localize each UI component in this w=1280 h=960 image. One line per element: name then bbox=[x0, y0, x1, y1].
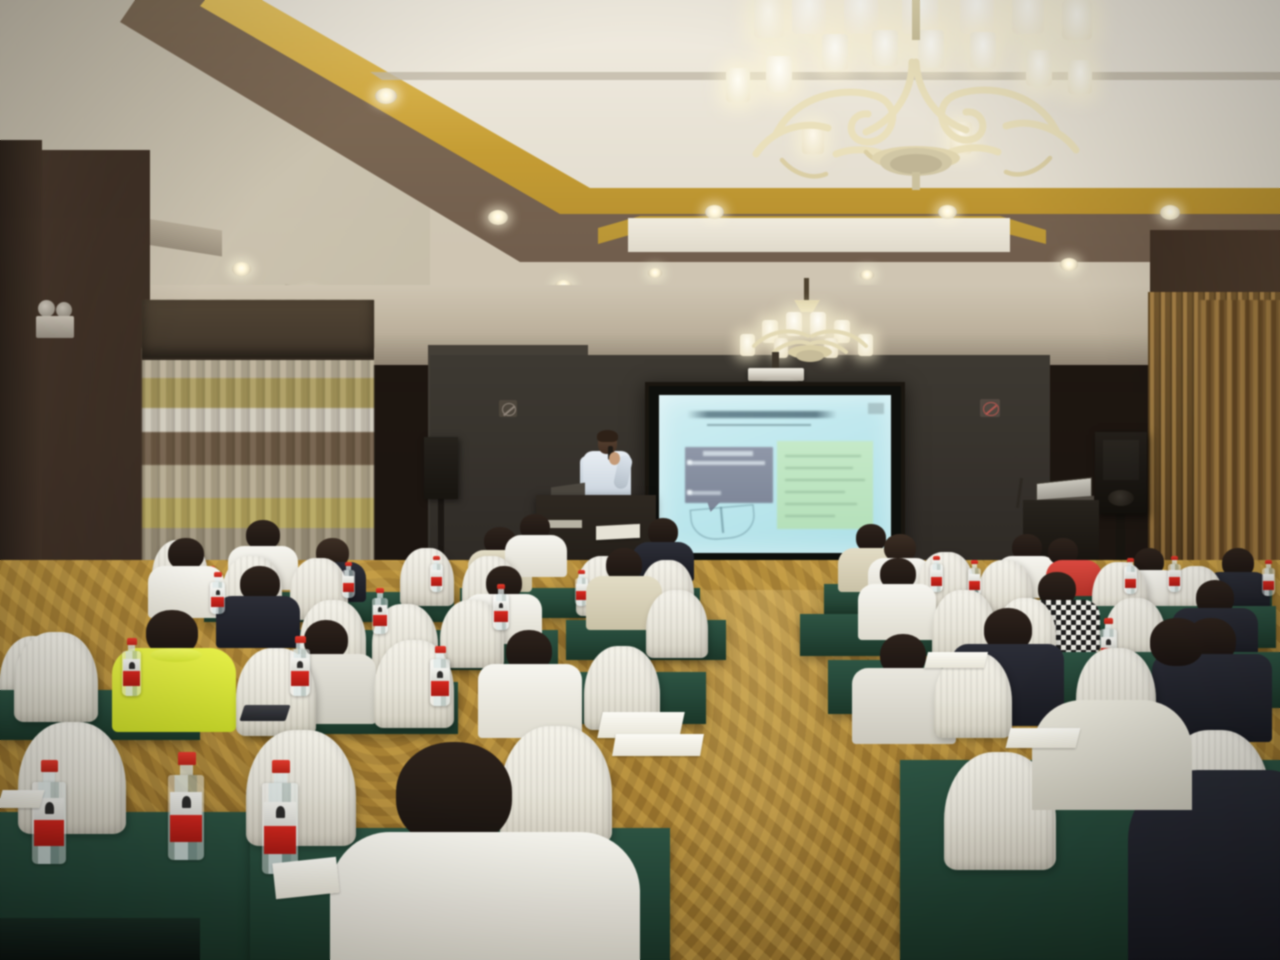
banquet-chair bbox=[500, 726, 612, 844]
handout-paper bbox=[612, 734, 704, 756]
banquet-chair bbox=[646, 590, 708, 658]
downlight-icon bbox=[705, 205, 724, 219]
water-bottle bbox=[32, 760, 66, 864]
downlight-icon bbox=[488, 210, 508, 225]
speaker-cone-icon bbox=[1108, 490, 1134, 506]
chandelier-scrollwork bbox=[716, 34, 1116, 194]
emergency-light-head-icon bbox=[38, 300, 55, 317]
water-bottle bbox=[122, 638, 141, 696]
attendee-body bbox=[216, 596, 300, 648]
no-smoking-sign-icon bbox=[980, 399, 1000, 417]
downlight-icon bbox=[1160, 205, 1180, 220]
emergency-light bbox=[36, 316, 74, 338]
downlight-icon bbox=[1060, 258, 1078, 271]
attendee-body bbox=[858, 584, 936, 640]
water-bottle bbox=[430, 646, 450, 706]
water-bottle bbox=[1124, 558, 1137, 594]
attendee-head bbox=[1150, 618, 1204, 666]
handout-paper bbox=[924, 652, 988, 668]
slide-green-panel bbox=[777, 441, 873, 529]
slide-title-rule bbox=[707, 424, 811, 426]
handout-paper bbox=[596, 524, 640, 540]
no-smoking-sign-icon bbox=[499, 400, 517, 417]
slide-dark-panel bbox=[685, 447, 773, 503]
water-bottle bbox=[372, 588, 388, 634]
water-bottle bbox=[930, 556, 943, 592]
water-bottle bbox=[1168, 556, 1181, 592]
water-bottle bbox=[430, 556, 443, 592]
slide-book-illustration bbox=[690, 504, 757, 541]
attendee-body bbox=[1032, 700, 1192, 810]
slide-title-bar bbox=[687, 411, 837, 418]
foreground-shadow bbox=[0, 918, 200, 960]
curtain-left-valance bbox=[142, 300, 374, 360]
presenter-hand bbox=[609, 452, 620, 465]
mobile-phone bbox=[239, 705, 290, 721]
front-chandelier bbox=[716, 0, 1116, 194]
attendee-foreground-head bbox=[396, 742, 512, 846]
handout-paper bbox=[1006, 728, 1081, 748]
water-bottle bbox=[168, 752, 204, 860]
water-bottle bbox=[342, 562, 355, 598]
downlight-icon bbox=[232, 262, 251, 276]
water-bottle bbox=[290, 636, 310, 696]
downlight-icon bbox=[648, 268, 662, 278]
presenter-hair bbox=[597, 430, 618, 442]
handout-paper bbox=[272, 857, 339, 899]
slide-logo bbox=[868, 403, 884, 414]
yellow-jacket-collar bbox=[150, 648, 202, 662]
handout-paper bbox=[0, 790, 45, 808]
downlight-icon bbox=[938, 205, 957, 219]
handout-paper bbox=[546, 520, 582, 528]
downlight-icon bbox=[375, 88, 397, 104]
speaker-left bbox=[424, 437, 458, 499]
water-bottle bbox=[210, 572, 225, 614]
conference-room-photo bbox=[0, 0, 1280, 960]
water-bottle bbox=[1262, 560, 1275, 596]
water-bottle bbox=[262, 760, 298, 874]
slide-surface bbox=[659, 395, 891, 553]
ceiling-inner-panel-rear bbox=[628, 218, 1010, 252]
banquet-chair bbox=[400, 548, 454, 606]
attendee-foreground-white bbox=[330, 832, 640, 960]
water-bottle bbox=[493, 584, 509, 630]
banquet-chair bbox=[14, 632, 98, 722]
rear-chandelier bbox=[730, 278, 890, 374]
